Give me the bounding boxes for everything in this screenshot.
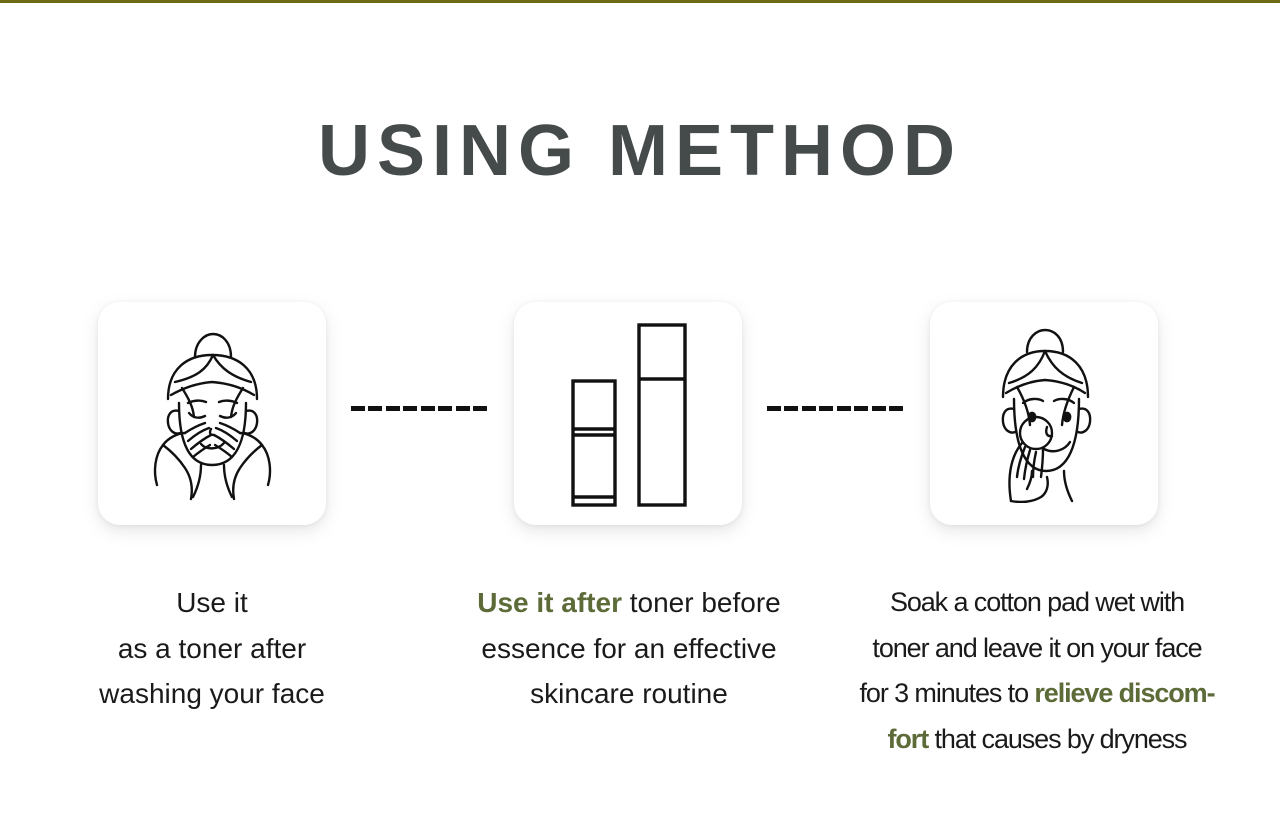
step-card-3[interactable] [930,302,1158,525]
caption-line: Soak a cotton pad wet with [838,580,1236,626]
caption-text: for 3 minutes to [860,678,1035,708]
caption-line: essence for an effective [438,626,820,672]
caption-text: Soak a cotton pad wet with [890,587,1184,617]
dash-segment [473,406,487,411]
dash-segment [837,406,851,411]
caption-text: Use it [176,587,248,618]
caption-highlight: relieve discom- [1034,678,1214,708]
dash-segment [767,406,781,411]
dash-segment [368,406,382,411]
caption-line: as a toner after [52,626,372,672]
caption-highlight: Use it after [477,587,622,618]
caption-text: that causes by dryness [928,724,1186,754]
caption-line: Use it [52,580,372,626]
step-card-1[interactable] [98,302,326,525]
dash-segment [889,406,903,411]
dash-segment [802,406,816,411]
caption-line: for 3 minutes to relieve discom- [838,671,1236,717]
dash-segment [456,406,470,411]
dash-segment [854,406,868,411]
step-card-2[interactable] [514,302,742,525]
dash-segment [386,406,400,411]
caption-line: skincare routine [438,671,820,717]
caption-text: skincare routine [530,678,728,709]
dash-segment [819,406,833,411]
two-cosmetic-bottles-icon [553,319,703,509]
caption-line: washing your face [52,671,372,717]
dash-segment [438,406,452,411]
using-method-infographic: USING METHOD [0,0,1280,814]
steps-row [0,302,1280,532]
caption-text: as a toner after [118,633,306,664]
caption-text: essence for an effective [481,633,776,664]
page-title: USING METHOD [0,108,1280,194]
caption-text: washing your face [99,678,325,709]
caption-line: Use it after toner before [438,580,820,626]
top-accent-rule [0,0,1280,3]
connector-step2-step3 [767,406,903,411]
step-caption-2: Use it after toner beforeessence for an … [438,580,820,717]
connector-step1-step2 [351,406,487,411]
step-caption-3: Soak a cotton pad wet withtoner and leav… [838,580,1236,762]
captions-row: Use itas a toner afterwashing your face … [0,580,1280,780]
caption-text: toner before [622,587,781,618]
caption-text: toner and leave it on your face [872,633,1201,663]
dash-segment [872,406,886,411]
face-washing-with-hands-icon [127,325,297,503]
dash-segment [351,406,365,411]
caption-line: fort that causes by dryness [838,717,1236,763]
cotton-pad-on-face-icon [959,325,1129,503]
dash-segment [784,406,798,411]
caption-line: toner and leave it on your face [838,626,1236,672]
dash-segment [421,406,435,411]
dash-segment [403,406,417,411]
caption-highlight: fort [888,724,929,754]
step-caption-1: Use itas a toner afterwashing your face [52,580,372,717]
